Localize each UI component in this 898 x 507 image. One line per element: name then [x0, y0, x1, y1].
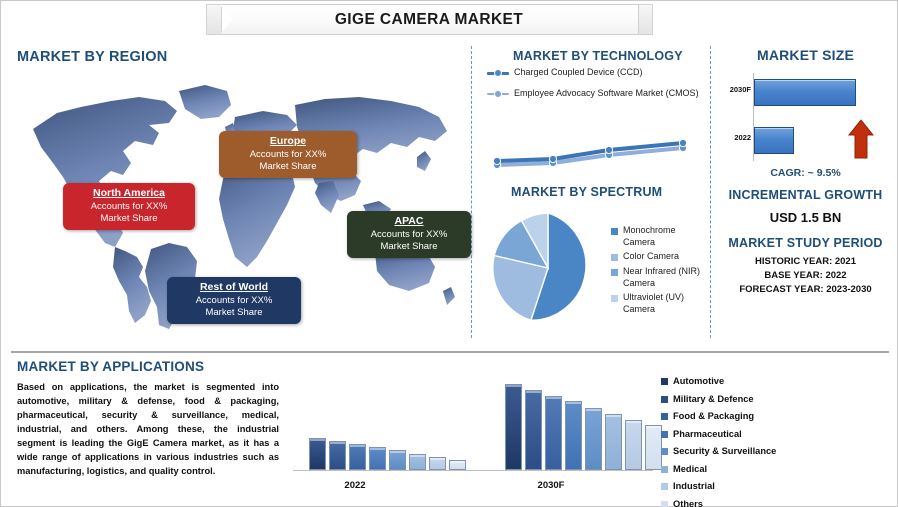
region-box-apac-sub: Accounts for XX% Market Share: [355, 229, 463, 253]
legend-label: Industrial: [673, 480, 715, 492]
app-bar-2022-medical: [409, 454, 426, 470]
app-bar-2030f-others: [645, 425, 662, 470]
app-bar-2030f-industrial: [625, 420, 642, 470]
legend-item: Charged Coupled Device (CCD): [487, 67, 703, 79]
banner-tail-left: [206, 4, 222, 35]
applications-paragraph: Based on applications, the market is seg…: [17, 381, 279, 479]
region-box-rest-of-world-title: Rest of World: [175, 281, 293, 294]
app-bar-2030f-medical: [605, 414, 622, 470]
title-banner: GIGE CAMERA MARKET: [219, 4, 639, 35]
spectrum-heading: MARKET BY SPECTRUM: [511, 185, 662, 199]
app-bar-2022-pharmaceutical: [369, 447, 386, 470]
legend-label: Others: [673, 498, 703, 507]
legend-label: Security & Surveillance: [673, 445, 776, 457]
legend-swatch-icon: [661, 466, 668, 473]
app-bar-2030f-security-surveillance: [585, 408, 602, 470]
region-box-north-america[interactable]: North America Accounts for XX% Market Sh…: [63, 183, 195, 230]
legend-swatch-icon: [661, 501, 668, 507]
legend-item: Medical: [661, 463, 891, 475]
region-panel: MARKET BY REGION: [1, 39, 467, 341]
study-line-historic: HISTORIC YEAR: 2021: [712, 255, 898, 269]
legend-label: Near Infrared (NIR) Camera: [623, 266, 707, 289]
market-size-heading: MARKET SIZE: [712, 47, 898, 63]
legend-label: Employee Advocacy Software Market (CMOS): [514, 88, 699, 100]
app-bar-2022-automotive: [309, 438, 326, 470]
legend-label: Color Camera: [623, 251, 679, 263]
banner-tail-right: [637, 4, 653, 35]
legend-label: Automotive: [673, 375, 724, 387]
legend-item: Monochrome Camera: [611, 225, 707, 248]
market-size-bar-chart: 2030F 2022: [723, 71, 888, 163]
applications-heading: MARKET BY APPLICATIONS: [17, 359, 204, 374]
app-bar-2022-security-surveillance: [389, 450, 406, 470]
world-map: Europe Accounts for XX% Market Share Nor…: [19, 71, 461, 333]
legend-swatch-icon: [611, 228, 618, 235]
vertical-divider-left: [471, 46, 472, 338]
applications-bar-chart: 2022 2030F: [293, 371, 653, 493]
chart-baseline: [293, 470, 653, 471]
region-heading: MARKET BY REGION: [17, 49, 167, 65]
legend-item: Automotive: [661, 375, 891, 387]
technology-panel: MARKET BY TECHNOLOGY Charged Coupled Dev…: [473, 39, 709, 179]
region-box-europe[interactable]: Europe Accounts for XX% Market Share: [219, 131, 357, 178]
market-size-panel: MARKET SIZE 2030F 2022 CAGR: ~ 9.5% INCR…: [712, 39, 898, 341]
legend-item: Color Camera: [611, 251, 707, 263]
size-bar-2030f: [754, 79, 856, 106]
vertical-divider-right: [710, 46, 711, 338]
applications-panel: MARKET BY APPLICATIONS Based on applicat…: [1, 353, 898, 506]
technology-heading: MARKET BY TECHNOLOGY: [513, 49, 683, 63]
legend-item: Employee Advocacy Software Market (CMOS): [487, 88, 703, 100]
market-study-period-heading: MARKET STUDY PERIOD: [712, 236, 898, 250]
technology-line-chart-svg: [483, 135, 699, 175]
app-bar-2030f-automotive: [505, 384, 522, 470]
legend-swatch-icon: [661, 413, 668, 420]
legend-label: Monochrome Camera: [623, 225, 707, 248]
legend-label: Medical: [673, 463, 707, 475]
study-line-base: BASE YEAR: 2022: [712, 269, 898, 283]
app-bar-2022-food-packaging: [349, 444, 366, 470]
legend-item: Military & Defence: [661, 393, 891, 405]
group-label-2030f: 2030F: [521, 480, 581, 491]
legend-label: Pharmaceutical: [673, 428, 742, 440]
legend-swatch-icon: [661, 378, 668, 385]
legend-swatch-icon: [611, 295, 618, 302]
legend-item: Near Infrared (NIR) Camera: [611, 266, 707, 289]
incremental-growth-heading: INCREMENTAL GROWTH: [712, 188, 898, 202]
app-bar-2030f-food-packaging: [545, 396, 562, 470]
app-bar-2022-others: [449, 460, 466, 470]
region-box-apac[interactable]: APAC Accounts for XX% Market Share: [347, 211, 471, 258]
page-title: GIGE CAMERA MARKET: [335, 11, 523, 29]
app-bar-2030f-pharmaceutical: [565, 401, 582, 470]
region-box-north-america-sub: Accounts for XX% Market Share: [71, 201, 187, 225]
legend-swatch-icon: [661, 396, 668, 403]
legend-item: Food & Packaging: [661, 410, 891, 422]
region-box-apac-title: APAC: [355, 215, 463, 228]
app-bar-2030f-military-defence: [525, 390, 542, 470]
spectrum-panel: MARKET BY SPECTRUM Monochrome Camera: [473, 181, 709, 341]
legend-item: Others: [661, 498, 891, 507]
legend-swatch-icon: [661, 483, 668, 490]
legend-item: Ultraviolet (UV) Camera: [611, 292, 707, 315]
legend-label: Charged Coupled Device (CCD): [514, 67, 643, 79]
legend-swatch-icon: [661, 431, 668, 438]
infographic-root: GIGE CAMERA MARKET MARKET BY REGION: [0, 0, 898, 507]
legend-label: Food & Packaging: [673, 410, 754, 422]
region-box-rest-of-world-sub: Accounts for XX% Market Share: [175, 295, 293, 319]
group-label-2022: 2022: [325, 480, 385, 491]
size-tick-2022: 2022: [723, 133, 751, 142]
line-marker-icon: [487, 89, 509, 99]
region-box-europe-sub: Accounts for XX% Market Share: [227, 149, 349, 173]
size-tick-2030f: 2030F: [723, 85, 751, 94]
applications-legend: Automotive Military & Defence Food & Pac…: [661, 375, 891, 507]
size-bar-2022: [754, 127, 794, 154]
line-marker-icon: [487, 68, 509, 78]
legend-swatch-icon: [611, 254, 618, 261]
region-box-europe-title: Europe: [227, 135, 349, 148]
legend-item: Pharmaceutical: [661, 428, 891, 440]
spectrum-legend: Monochrome Camera Color Camera Near Infr…: [611, 225, 707, 319]
legend-item: Security & Surveillance: [661, 445, 891, 457]
region-box-rest-of-world[interactable]: Rest of World Accounts for XX% Market Sh…: [167, 277, 301, 324]
technology-legend: Charged Coupled Device (CCD) Employee Ad…: [487, 67, 703, 108]
legend-swatch-icon: [611, 269, 618, 276]
legend-label: Military & Defence: [673, 393, 754, 405]
app-bar-2022-military-defence: [329, 441, 346, 470]
region-box-north-america-title: North America: [71, 187, 187, 200]
incremental-growth-value: USD 1.5 BN: [712, 210, 898, 225]
market-study-period-lines: HISTORIC YEAR: 2021 BASE YEAR: 2022 FORE…: [712, 255, 898, 296]
spectrum-pie-svg: [491, 211, 605, 325]
legend-label: Ultraviolet (UV) Camera: [623, 292, 707, 315]
app-bar-2022-industrial: [429, 457, 446, 470]
legend-swatch-icon: [661, 448, 668, 455]
cagr-value: CAGR: ~ 9.5%: [712, 167, 898, 179]
legend-item: Industrial: [661, 480, 891, 492]
growth-arrow-icon: [848, 119, 874, 159]
study-line-forecast: FORECAST YEAR: 2023-2030: [712, 283, 898, 297]
technology-line-chart: [483, 135, 699, 175]
spectrum-pie-chart: [491, 211, 605, 325]
